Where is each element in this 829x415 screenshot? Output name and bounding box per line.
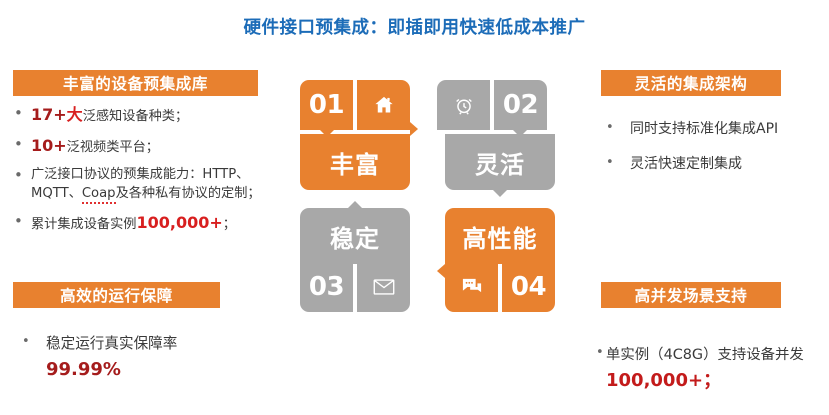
list-item-text: 稳定运行真实保障率 99.99%: [46, 334, 302, 383]
quadrant-02-number: 02: [494, 80, 547, 130]
list-item-line-1: 广泛接口协议的预集成能力：HTTP、: [31, 167, 249, 182]
bullet-dot-icon: •: [14, 166, 31, 185]
bullet-dot-icon: •: [14, 135, 31, 154]
quadrant-03-label: 稳定: [300, 208, 410, 264]
panel-header-rich-library: 丰富的设备预集成库: [13, 70, 258, 96]
list-item-text: 累计集成设备实例100,000+；: [31, 212, 304, 234]
bullet-dot-icon: •: [22, 334, 46, 350]
bullet-list-rich-library: • 17+大泛感知设备种类； • 10+泛视频类平台； • 广泛接口协议的预集成…: [14, 104, 304, 243]
bullet-dot-icon: •: [606, 120, 630, 136]
list-item: • 累计集成设备实例100,000+；: [14, 212, 304, 234]
quadrant-02-notch-bottom: [493, 190, 507, 197]
quadrant-03[interactable]: 稳定 03: [300, 208, 418, 322]
list-item-post: ；: [223, 217, 236, 232]
quadrant-04-number: 04: [502, 262, 555, 312]
list-item-text: 17+大泛感知设备种类；: [31, 104, 304, 126]
list-item-text: 同时支持标准化集成API: [630, 120, 829, 139]
list-item-label: 单实例（4C8G）支持设备并发: [606, 347, 804, 363]
list-item-label: 稳定运行真实保障率: [46, 335, 177, 352]
quadrant-03-number: 03: [300, 262, 353, 312]
list-item-text: 10+泛视频类平台；: [31, 135, 304, 157]
bullet-list-high-concurrency: • 单实例（4C8G）支持设备并发100,000+；: [596, 345, 829, 403]
value-max-concurrency: 100,000+；: [606, 370, 721, 391]
quadrant-02[interactable]: 02 灵活: [437, 80, 555, 194]
quadrant-04[interactable]: 高性能 04: [437, 208, 555, 322]
quadrant-04-arrow-left-icon: [437, 264, 445, 278]
quadrant-02-label: 灵活: [445, 134, 555, 190]
misspelled-word: Coap: [82, 186, 116, 204]
list-item-text: 广泛接口协议的预集成能力：HTTP、 MQTT、Coap及各种私有协议的定制；: [31, 166, 304, 202]
four-quadrant-diagram: 01 丰富 02 灵活 稳定 03: [300, 80, 555, 322]
quadrant-01[interactable]: 01 丰富: [300, 80, 418, 194]
panel-header-ops-guarantee: 高效的运行保障: [13, 282, 220, 308]
value-count-platforms: 10+: [31, 136, 67, 155]
list-item: • 同时支持标准化集成API: [606, 120, 829, 139]
value-uptime-percentage: 99.99%: [46, 358, 302, 383]
value-count-devices-unit: 大: [67, 105, 83, 124]
list-item-rest: 泛感知设备种类；: [83, 109, 189, 124]
list-item-rest: 泛视频类平台；: [67, 140, 159, 155]
list-item-line-2b: 及各种私有协议的定制；: [116, 186, 261, 201]
page-title: 硬件接口预集成：即插即用快速低成本推广: [0, 14, 829, 39]
alarm-icon: [437, 80, 490, 130]
list-item-text: 单实例（4C8G）支持设备并发100,000+；: [606, 345, 829, 394]
value-count-devices: 17+: [31, 105, 67, 124]
list-item: • 灵活快速定制集成: [606, 155, 829, 174]
bullet-dot-icon: •: [14, 104, 31, 123]
quadrant-01-number: 01: [300, 80, 353, 130]
envelope-icon: [357, 262, 410, 312]
chat-icon: [445, 262, 498, 312]
list-item: • 稳定运行真实保障率 99.99%: [22, 334, 302, 383]
list-item: • 单实例（4C8G）支持设备并发100,000+；: [596, 345, 829, 394]
list-item: • 广泛接口协议的预集成能力：HTTP、 MQTT、Coap及各种私有协议的定制…: [14, 166, 304, 202]
list-item: • 17+大泛感知设备种类；: [14, 104, 304, 126]
bullet-list-ops-guarantee: • 稳定运行真实保障率 99.99%: [22, 334, 302, 392]
bullet-list-flexible-arch: • 同时支持标准化集成API • 灵活快速定制集成: [606, 120, 829, 191]
value-device-instances: 100,000+: [137, 213, 223, 232]
quadrant-01-arrow-right-icon: [410, 122, 418, 136]
quadrant-01-label: 丰富: [300, 134, 410, 190]
list-item-pre: 累计集成设备实例: [31, 217, 137, 232]
quadrant-04-label: 高性能: [445, 208, 555, 264]
panel-header-flexible-arch: 灵活的集成架构: [601, 70, 781, 96]
home-icon: [357, 80, 410, 130]
bullet-dot-icon: •: [14, 212, 31, 231]
list-item-text: 灵活快速定制集成: [630, 155, 829, 174]
panel-header-high-concurrency: 高并发场景支持: [601, 282, 781, 308]
bullet-dot-icon: •: [596, 345, 606, 361]
bullet-dot-icon: •: [606, 155, 630, 171]
list-item-line-2a: MQTT、: [31, 186, 82, 201]
quadrant-03-notch-top: [348, 201, 362, 208]
list-item: • 10+泛视频类平台；: [14, 135, 304, 157]
